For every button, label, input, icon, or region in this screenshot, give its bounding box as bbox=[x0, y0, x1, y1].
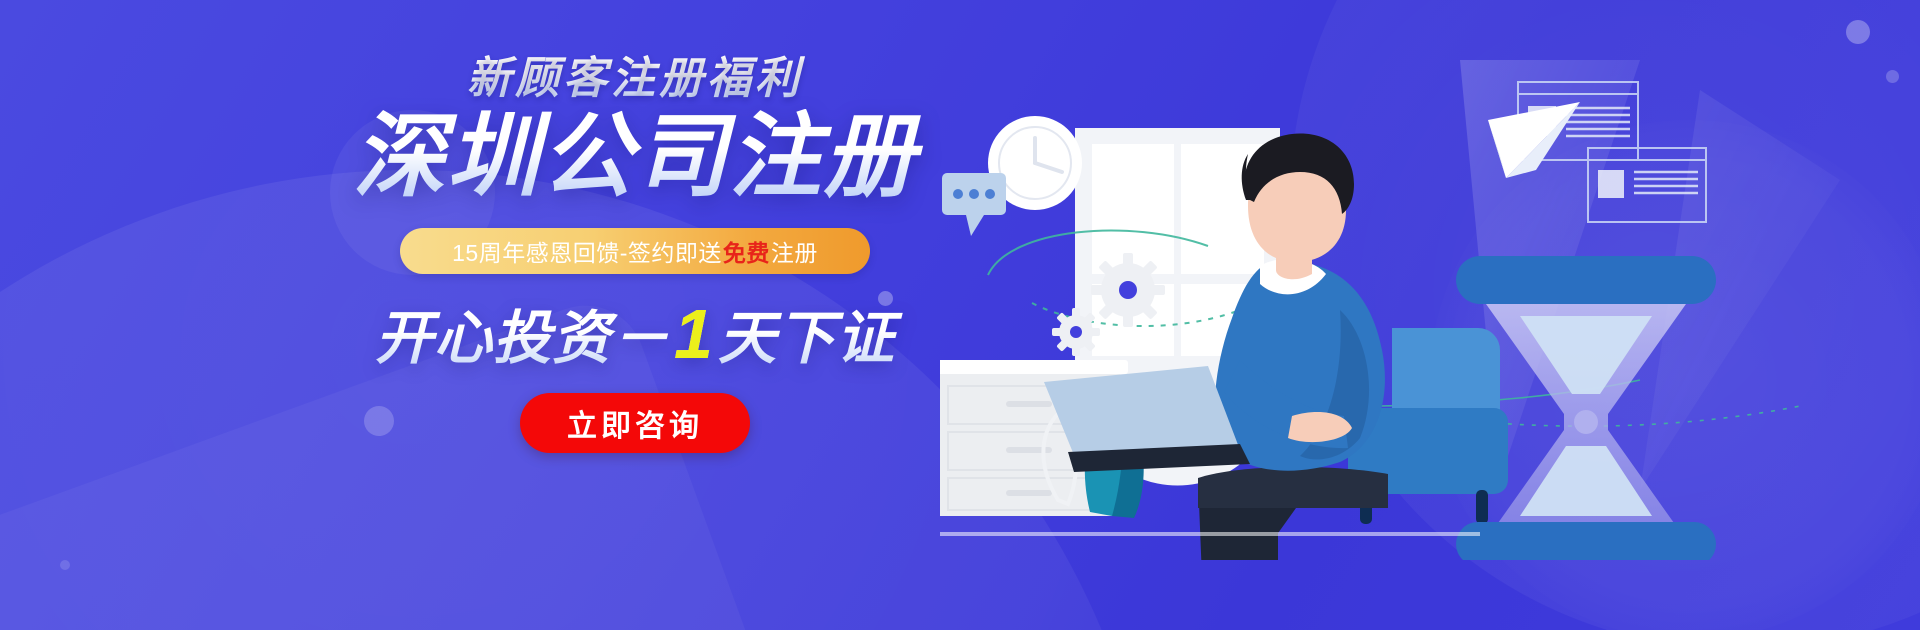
decor-dot bbox=[60, 560, 70, 570]
illustration bbox=[940, 60, 1900, 560]
promo-badge-suffix: 注册 bbox=[771, 234, 818, 268]
promo-banner: 新顾客注册福利 深圳公司注册 15周年感恩回馈-签约即送免费注册 开心投资－1天… bbox=[0, 0, 1920, 630]
decor-dot bbox=[1846, 20, 1870, 44]
floor-line bbox=[940, 532, 1480, 536]
eyebrow-text: 新顾客注册福利 bbox=[330, 55, 940, 103]
tagline-number: 1 bbox=[670, 295, 718, 373]
chat-bubble-icon bbox=[942, 173, 1006, 236]
promo-badge: 15周年感恩回馈-签约即送免费注册 bbox=[400, 228, 870, 274]
banner-copy: 新顾客注册福利 深圳公司注册 15周年感恩回馈-签约即送免费注册 开心投资－1天… bbox=[330, 55, 940, 453]
promo-badge-highlight: 免费 bbox=[722, 234, 771, 268]
tagline: 开心投资－1天下证 bbox=[330, 296, 940, 373]
page-title: 深圳公司注册 bbox=[330, 109, 940, 206]
promo-badge-prefix: 15周年感恩回馈-签约即送 bbox=[452, 234, 722, 268]
tagline-prefix: 开心投资－ bbox=[375, 306, 670, 371]
consult-now-button[interactable]: 立即咨询 bbox=[520, 393, 750, 453]
tagline-suffix: 天下证 bbox=[718, 306, 895, 371]
